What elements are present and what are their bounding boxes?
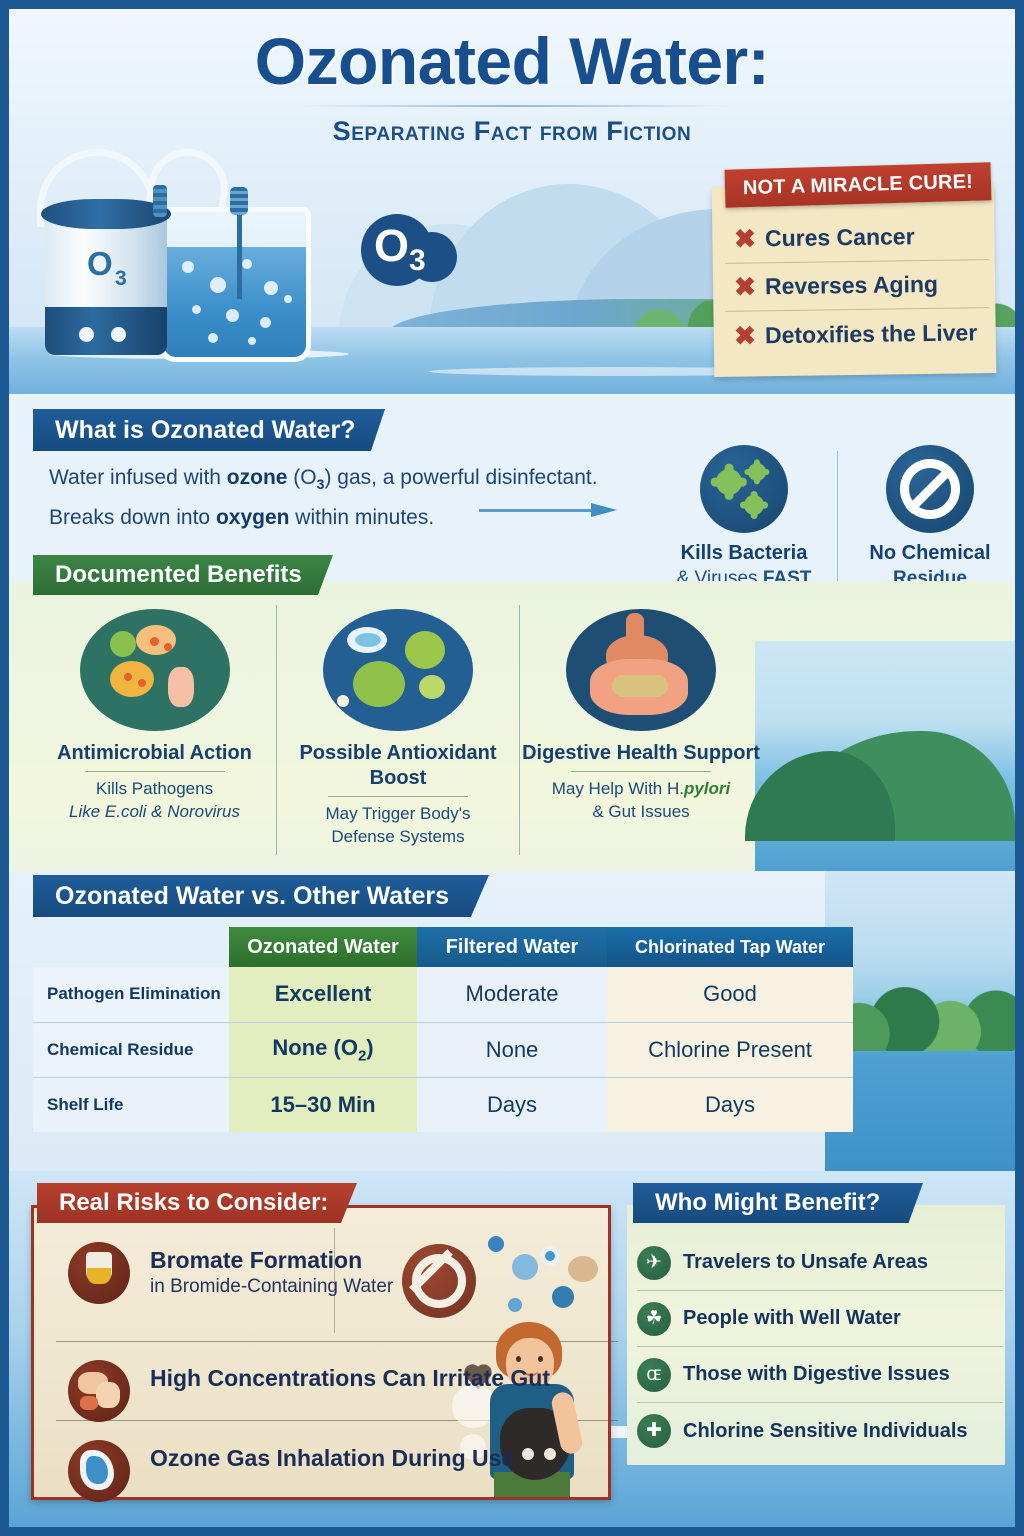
miracle-cure-banner-label: NOT A MIRACLE CURE! <box>725 162 992 207</box>
list-item: ɶ Those with Digestive Issues <box>637 1347 1003 1403</box>
section-heading-label: Documented Benefits <box>55 561 302 589</box>
page-subtitle: Separating Fact from Fiction <box>9 116 1015 147</box>
well-water-icon: ☘ <box>637 1302 671 1336</box>
list-item: ✖ Detoxifies the Liver <box>725 308 990 360</box>
fact-kills-bacteria: Kills Bacteria & Viruses FAST <box>659 445 829 591</box>
table-row: Pathogen Elimination Excellent Moderate … <box>33 967 853 1022</box>
generator-cap <box>41 199 171 229</box>
section-heading-label: Who Might Benefit? <box>655 1189 880 1217</box>
miracle-claim-label: Reverses Aging <box>765 271 938 300</box>
bacteria-icon <box>700 445 788 533</box>
ozone-generator-illustration: O 3 <box>31 149 331 384</box>
fact-title: Kills Bacteria <box>659 541 829 566</box>
cells-icon <box>323 609 473 731</box>
column-header-blank <box>33 927 229 967</box>
benefit-sub-line2: & Gut Issues <box>520 800 762 823</box>
table-header-row: Ozonated Water Filtered Water Chlorinate… <box>33 927 853 967</box>
list-item: ☘ People with Well Water <box>637 1291 1003 1347</box>
risk-title: Bromate Formation <box>150 1246 393 1274</box>
section-heading-label: Real Risks to Consider: <box>59 1189 328 1217</box>
diffuser-wand <box>237 209 242 299</box>
cell-ozonated: 15–30 Min <box>229 1077 417 1132</box>
text-fragment: ) gas, a powerful disinfectant. <box>324 466 597 489</box>
cell-filtered: Days <box>417 1077 607 1132</box>
benefit-audience-label: Travelers to Unsafe Areas <box>683 1251 928 1274</box>
benefit-title: Digestive Health Support <box>520 741 762 766</box>
page-title: Ozonated Water: <box>9 23 1015 99</box>
plus-cross-icon: ✚ <box>637 1414 671 1448</box>
text-fragment: May Help With H. <box>552 779 684 798</box>
o3-badge: O 3 <box>361 214 457 290</box>
fact-title: No Chemical <box>845 541 1015 566</box>
cell-chlorinated: Chlorine Present <box>607 1022 853 1077</box>
infographic-poster: Ozonated Water: Separating Fact from Fic… <box>0 0 1024 1536</box>
title-divider <box>299 105 729 107</box>
device-o3-subscript: 3 <box>115 267 127 291</box>
row-label: Pathogen Elimination <box>33 967 229 1022</box>
miracle-cure-list: ✖ Cures Cancer ✖ Reverses Aging ✖ Detoxi… <box>725 214 989 358</box>
list-item: ✚ Chlorine Sensitive Individuals <box>637 1403 1003 1459</box>
text-fragment: None (O <box>272 1035 358 1060</box>
tree-cluster <box>825 981 1015 1051</box>
mask-icon <box>68 1440 130 1502</box>
section-heading-label: What is Ozonated Water? <box>55 416 355 445</box>
benefit-sub-line1: May Trigger Body's <box>277 802 519 825</box>
risks-card: Bromate Formation in Bromide-Containing … <box>31 1205 611 1500</box>
o3-badge-letter: O <box>374 220 409 272</box>
quick-facts: Kills Bacteria & Viruses FAST No Chemica… <box>659 445 1015 595</box>
benefit-antioxidant: Possible Antioxidant Boost May Trigger B… <box>276 605 519 855</box>
cell-chlorinated: Good <box>607 967 853 1022</box>
fact-no-chemical-residue: No Chemical Residue <box>845 445 1015 591</box>
generator-base <box>45 307 167 355</box>
list-item: ✖ Reverses Aging <box>725 260 990 312</box>
table-row: Shelf Life 15–30 Min Days Days <box>33 1077 853 1132</box>
benefit-sub-line1: May Help With H.pylori <box>520 777 762 800</box>
x-mark-icon: ✖ <box>725 320 765 352</box>
generator-nozzle <box>153 185 167 217</box>
list-item: ✖ Cures Cancer <box>725 212 990 264</box>
comparison-table: Ozonated Water Filtered Water Chlorinate… <box>33 927 853 1132</box>
text-fragment: within minutes. <box>289 506 434 529</box>
what-is-line-1: Water infused with ozone (O3) gas, a pow… <box>49 461 669 501</box>
list-item: ✈ Travelers to Unsafe Areas <box>637 1235 1003 1291</box>
benefit-sub-1: Kills Pathogens <box>33 771 276 800</box>
x-mark-icon: ✖ <box>725 271 765 303</box>
what-is-body-text: Water infused with ozone (O3) gas, a pow… <box>49 461 669 534</box>
benefit-digestive: Digestive Health Support May Help With H… <box>519 605 762 855</box>
who-benefits-list: ✈ Travelers to Unsafe Areas ☘ People wit… <box>637 1235 1003 1459</box>
x-mark-icon: ✖ <box>725 223 765 255</box>
led-indicator-2 <box>111 327 126 342</box>
miracle-claim-label: Detoxifies the Liver <box>765 319 978 349</box>
column-header-filtered: Filtered Water <box>417 927 607 967</box>
no-entry-icon <box>402 1244 476 1318</box>
section-heading-comparison: Ozonated Water vs. Other Waters <box>33 875 489 917</box>
benefit-audience-label: People with Well Water <box>683 1307 901 1330</box>
section-heading-risks: Real Risks to Consider: <box>37 1183 357 1223</box>
risk-title: Ozone Gas Inhalation During Use <box>150 1444 514 1472</box>
section-heading-benefits: Documented Benefits <box>33 555 333 595</box>
benefit-antimicrobial: Antimicrobial Action Kills Pathogens Lik… <box>33 605 276 855</box>
section-heading-what-is: What is Ozonated Water? <box>33 409 385 451</box>
text-fragment: Water infused with <box>49 466 227 489</box>
text-emphasis-pylori: pylori <box>684 779 730 798</box>
row-label: Shelf Life <box>33 1077 229 1132</box>
column-header-chlorinated: Chlorinated Tap Water <box>607 927 853 967</box>
miracle-cure-banner: NOT A MIRACLE CURE! <box>725 162 992 207</box>
benefit-audience-label: Those with Digestive Issues <box>683 1363 950 1386</box>
benefit-sub-1-label: Kills Pathogens <box>96 779 213 798</box>
benefit-title: Possible Antioxidant Boost <box>277 741 519 791</box>
cell-filtered: None <box>417 1022 607 1077</box>
o3-badge-subscript: 3 <box>409 244 426 278</box>
stomach-pain-icon <box>68 1360 130 1422</box>
comparison-nature-backdrop <box>825 871 1015 1171</box>
miracle-claim-label: Cures Cancer <box>765 223 915 252</box>
cell-ozonated: None (O2) <box>229 1022 417 1077</box>
column-header-ozonated: Ozonated Water <box>229 927 417 967</box>
diffuser-tip <box>230 187 248 215</box>
airplane-icon: ✈ <box>637 1246 671 1280</box>
microbes-icon <box>80 609 230 731</box>
text-emphasis-ozone: ozone <box>227 466 288 489</box>
cell-chlorinated: Days <box>607 1077 853 1132</box>
text-fragment: Breaks down into <box>49 506 216 529</box>
no-entry-icon <box>886 445 974 533</box>
text-fragment: (O <box>287 466 316 489</box>
cell-filtered: Moderate <box>417 967 607 1022</box>
fact-divider <box>837 451 838 591</box>
led-indicator-1 <box>79 327 94 342</box>
benefit-sub-2: Like E.coli & Norovirus <box>33 800 276 823</box>
benefit-title: Antimicrobial Action <box>33 741 276 766</box>
flow-arrow-icon <box>479 503 629 517</box>
risk-subtitle: in Bromide-Containing Water <box>150 1274 393 1300</box>
digestive-icon: ɶ <box>637 1358 671 1392</box>
device-o3-label: O <box>87 245 113 283</box>
row-label: Chemical Residue <box>33 1022 229 1077</box>
benefit-sub-line2: Defense Systems <box>277 825 519 848</box>
benefits-nature-backdrop <box>755 641 1015 871</box>
glass-water <box>164 247 306 357</box>
text-fragment: ) <box>366 1035 373 1060</box>
cell-ozonated: Excellent <box>229 967 417 1022</box>
section-heading-who-benefits: Who Might Benefit? <box>633 1183 923 1223</box>
risk-title: High Concentrations Can Irritate Gut <box>150 1364 550 1392</box>
table-row: Chemical Residue None (O2) None Chlorine… <box>33 1022 853 1077</box>
benefits-columns: Antimicrobial Action Kills Pathogens Lik… <box>33 605 763 855</box>
section-heading-label: Ozonated Water vs. Other Waters <box>55 882 449 911</box>
text-emphasis-oxygen: oxygen <box>216 506 290 529</box>
flask-icon <box>68 1242 130 1304</box>
benefit-audience-label: Chlorine Sensitive Individuals <box>683 1420 968 1443</box>
digestive-system-icon <box>566 609 716 731</box>
